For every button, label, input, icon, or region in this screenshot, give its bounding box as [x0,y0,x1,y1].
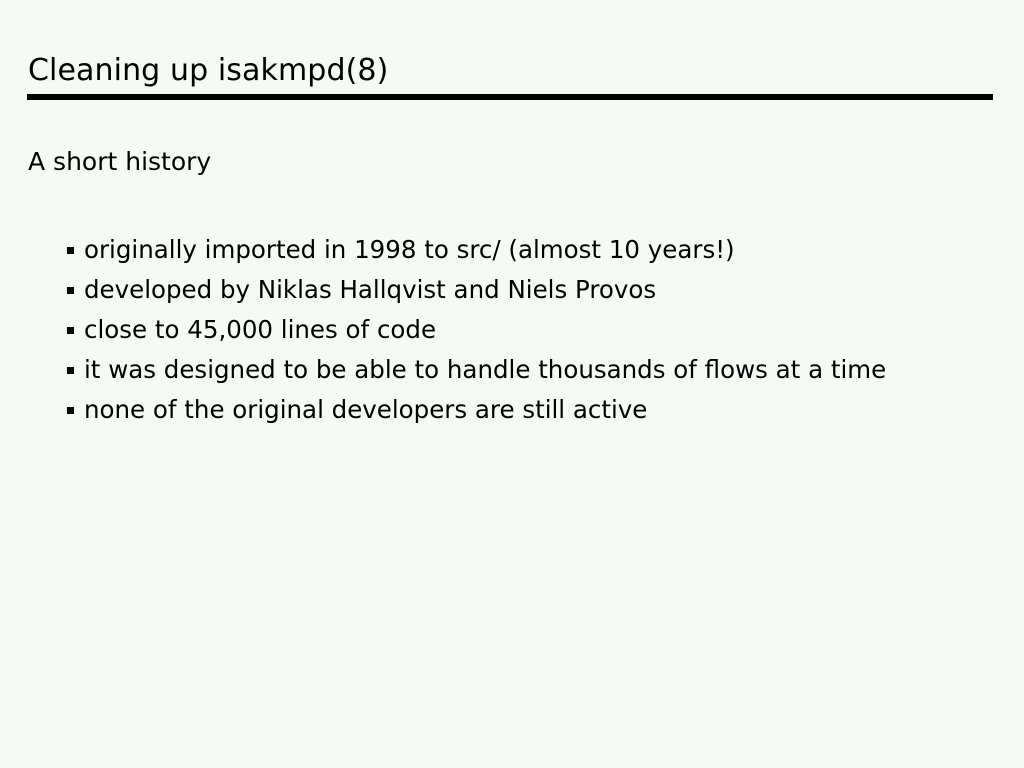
list-item: none of the original developers are stil… [66,390,960,430]
slide: Cleaning up isakmpd(8) A short history o… [0,0,1024,768]
list-item: it was designed to be able to handle tho… [66,350,960,390]
square-bullet-icon [67,327,74,334]
square-bullet-icon [67,367,74,374]
list-item: originally imported in 1998 to src/ (alm… [66,230,960,270]
square-bullet-icon [67,247,74,254]
square-bullet-icon [67,407,74,414]
list-item-label: developed by Niklas Hallqvist and Niels … [84,270,960,310]
list-item-label: it was designed to be able to handle tho… [84,350,960,390]
bullet-list: originally imported in 1998 to src/ (alm… [66,230,966,430]
slide-subtitle: A short history [28,146,211,178]
list-item-label: none of the original developers are stil… [84,390,960,430]
title-divider [27,94,993,100]
square-bullet-icon [67,287,74,294]
page-title: Cleaning up isakmpd(8) [28,52,388,90]
list-item-label: close to 45,000 lines of code [84,310,960,350]
list-item: close to 45,000 lines of code [66,310,960,350]
list-item-label: originally imported in 1998 to src/ (alm… [84,230,960,270]
list-item: developed by Niklas Hallqvist and Niels … [66,270,960,310]
